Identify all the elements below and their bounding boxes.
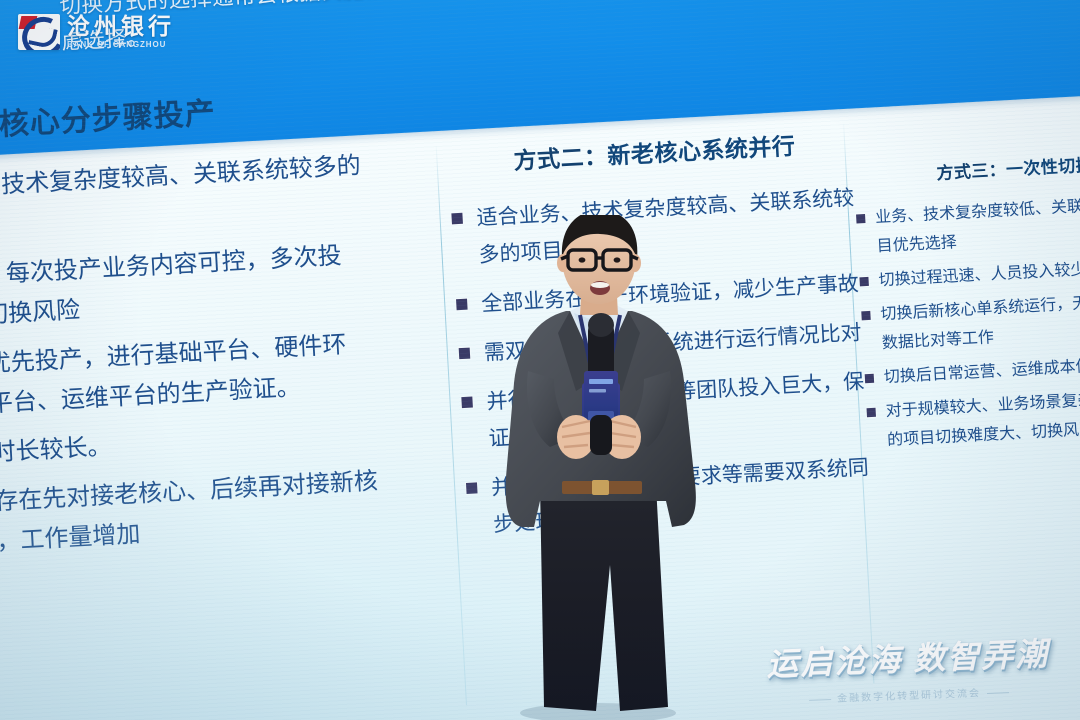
bullet-square-icon [459, 348, 471, 360]
column-three-title-label: 方式三： [936, 160, 1007, 183]
column-three-title: 方式三：一次性切换 [849, 146, 1080, 189]
list-item: 业务、技术复杂度较低、关联系统较少的项目优先选择 [851, 187, 1080, 263]
speaker-figure [470, 215, 730, 720]
list-item-text: 部分内容优先投产，进行基础平台、硬件环境、技术平台、运维平台的生产验证。 [0, 331, 347, 423]
rule-right [987, 692, 1009, 694]
column-two-title-value: 新老核心系统并行 [607, 133, 796, 169]
list-item-text: 部分系统存在先对接老核心、后续再对接新核心的情况，工作量增加 [0, 468, 378, 561]
list-item-text: 整体项目时长较长。 [0, 433, 112, 472]
column-two-title-label: 方式二： [513, 143, 608, 174]
bank-emblem-icon [18, 14, 60, 50]
list-item-text: 切换后新核心单系统运行，无需二次投入、数据比对等工作 [880, 290, 1080, 352]
list-item-text: 对于规模较大、业务场景复杂、关联系统多的项目切换难度大、切换风险高。 [885, 387, 1080, 449]
bank-logo: 沧州银行 BANK OF CANGZHOU [18, 14, 175, 50]
bank-name-en: BANK OF CANGZHOU [67, 41, 175, 49]
bank-logo-text: 沧州银行 BANK OF CANGZHOU [67, 15, 175, 49]
bank-name-cn: 沧州银行 [67, 15, 175, 38]
list-item-text: 业务、技术复杂度较低、关联系统较少的项目优先选择 [875, 193, 1080, 255]
column-one-bullets: 适合业务、技术复杂度较高、关联系统较多的项目 拆分业务，每次投产业务内容可控，多… [0, 145, 397, 569]
bullet-square-icon [859, 277, 868, 286]
list-item: 对于规模较大、业务场景复杂、关联系统多的项目切换难度大、切换风险高。 [862, 381, 1080, 457]
column-two-title: 方式二：新老核心系统并行 [444, 123, 865, 180]
trousers [540, 485, 668, 711]
slide-header-paragraph: 切换方式的选择通常会根据实施银行的规模、业务复杂度、技术复杂度、关联系统数量、切… [59, 0, 1080, 60]
list-item-text: 拆分业务，每次投产业务内容可控，多次投产、分散切换风险 [0, 242, 342, 334]
column-one-title-value: 新核心分步骤投产 [0, 97, 217, 143]
conference-photo: 施创环境的切换方式 切换方式的选择通常会根据实施银行的规模、业务复杂度、技术复杂… [0, 0, 1080, 720]
list-item-text: 切换后日常运营、运维成本低 [883, 358, 1080, 386]
bullet-square-icon [865, 374, 874, 383]
speaker-illustration [470, 215, 730, 720]
bullet-square-icon [867, 408, 876, 417]
belt-buckle [592, 480, 609, 495]
rule-left [809, 699, 831, 701]
column-one: 方式一：新核心分步骤投产 适合业务、技术复杂度较高、关联系统较多的项目 拆分业务… [0, 79, 397, 578]
list-item-text: 切换过程迅速、人员投入较少 [878, 261, 1080, 289]
bullet-square-icon [451, 213, 463, 225]
list-item: 切换后新核心单系统运行，无需二次投入、数据比对等工作 [857, 284, 1080, 360]
event-brand-lockup: 运启沧海 数智弄潮 金融数字化转型研讨交流会 [757, 628, 1059, 707]
column-three-bullets: 业务、技术复杂度较低、关联系统较少的项目优先选择 切换过程迅速、人员投入较少 切… [851, 187, 1080, 456]
bullet-square-icon [861, 311, 870, 320]
column-three: 方式三：一次性切换 业务、技术复杂度较低、关联系统较少的项目优先选择 切换过程迅… [849, 146, 1080, 461]
bullet-square-icon [856, 214, 865, 223]
list-item: 部分系统存在先对接老核心、后续再对接新核心的情况，工作量增加 [0, 461, 397, 570]
bullet-square-icon [456, 299, 468, 311]
column-three-title-value: 一次性切换 [1006, 156, 1080, 180]
list-item-text: 适合业务、技术复杂度较高、关联系统较多的项目 [0, 152, 361, 245]
